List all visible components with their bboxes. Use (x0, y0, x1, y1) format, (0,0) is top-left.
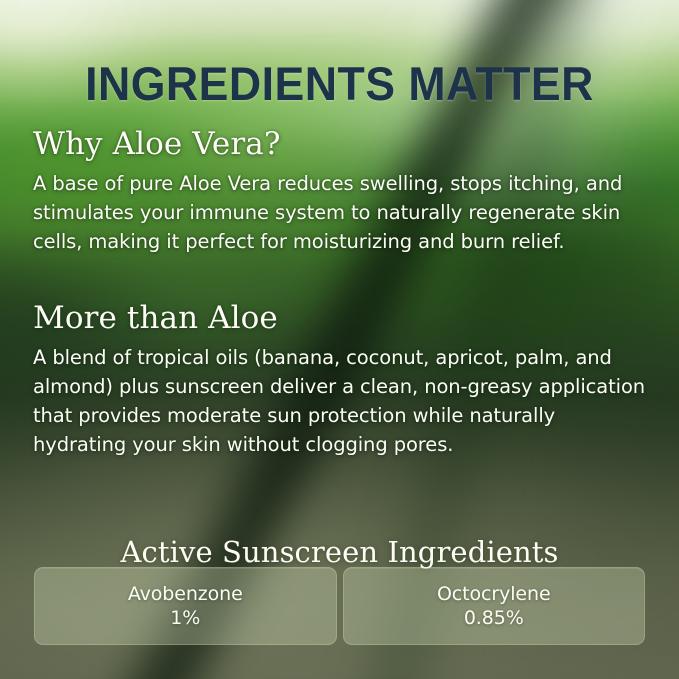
section-body-more-than-aloe: A blend of tropical oils (banana, coconu… (33, 343, 651, 460)
section-heading-why-aloe-vera: Why Aloe Vera? (33, 126, 651, 163)
section-more-than-aloe: More than Aloe A blend of tropical oils … (33, 300, 651, 460)
active-ingredients-heading: Active Sunscreen Ingredients (0, 536, 679, 569)
ingredient-card-avobenzone: Avobenzone 1% (34, 567, 337, 645)
ingredient-percentage: 1% (170, 607, 200, 629)
ingredient-name: Avobenzone (128, 583, 243, 605)
page-title: INGREDIENTS MATTER (17, 59, 662, 108)
active-ingredients-list: Avobenzone 1% Octocrylene 0.85% (34, 567, 645, 645)
ingredients-infographic: INGREDIENTS MATTER Why Aloe Vera? A base… (0, 0, 679, 679)
ingredient-name: Octocrylene (437, 583, 551, 605)
section-why-aloe-vera: Why Aloe Vera? A base of pure Aloe Vera … (33, 126, 651, 256)
ingredient-percentage: 0.85% (464, 607, 524, 629)
ingredient-card-octocrylene: Octocrylene 0.85% (343, 567, 646, 645)
content-overlay: INGREDIENTS MATTER Why Aloe Vera? A base… (0, 0, 679, 679)
section-body-why-aloe-vera: A base of pure Aloe Vera reduces swellin… (33, 169, 651, 257)
section-heading-more-than-aloe: More than Aloe (33, 300, 651, 337)
